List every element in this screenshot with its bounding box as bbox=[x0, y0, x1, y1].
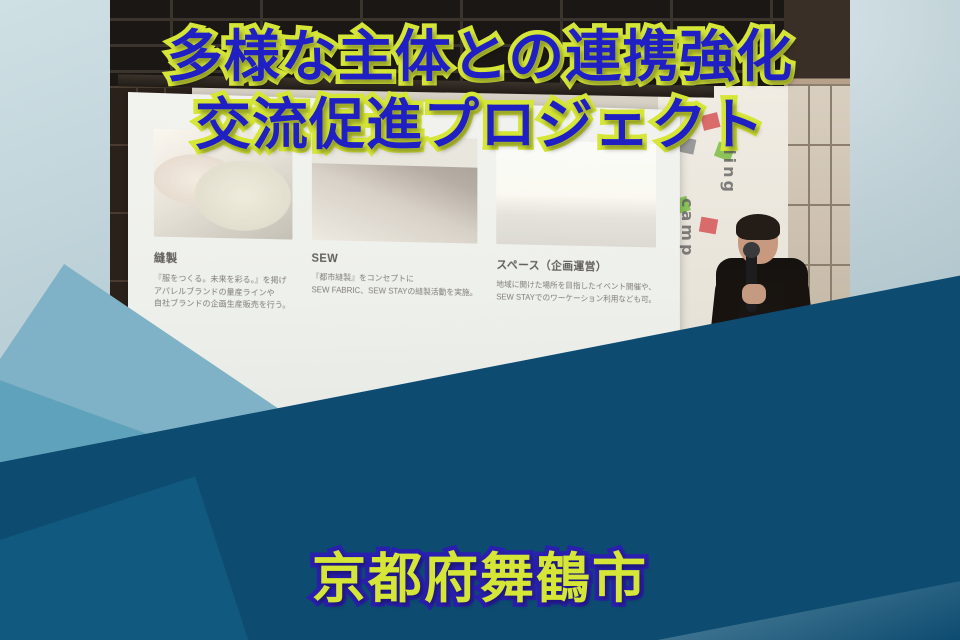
banner-square bbox=[700, 112, 720, 131]
speaker-hand bbox=[742, 284, 766, 304]
sewing-machine-photo bbox=[154, 129, 292, 240]
column-heading: SEW bbox=[311, 253, 477, 268]
white-building-photo bbox=[496, 139, 656, 247]
speaker-hair bbox=[736, 214, 780, 240]
slide-column-sewing: 縫製 『服をつくる。未来を彩る。』を掲げ アパレルブランドの量産ラインや 自社ブ… bbox=[154, 129, 292, 313]
slide-columns: 縫製 『服をつくる。未来を彩る。』を掲げ アパレルブランドの量産ラインや 自社ブ… bbox=[154, 129, 656, 319]
column-body: 地域に開けた場所を目指したイベント開催や、 SEW STAYでのワーケーション利… bbox=[496, 279, 656, 306]
column-heading: 縫製 bbox=[154, 250, 292, 269]
banner-text-bling: Bling bbox=[720, 134, 739, 195]
column-body-line: 自社ブランドの企画生産販売を行う。 bbox=[154, 298, 292, 313]
column-body: 『都市縫製』をコンセプトに SEW FABRIC、SEW STAYの縫製活動を実… bbox=[311, 272, 477, 300]
microphone-head-icon bbox=[743, 242, 760, 258]
traditional-house-photo bbox=[311, 134, 477, 244]
banner-text-camp: camp bbox=[678, 198, 697, 258]
video-thumbnail: SAKU camp Bling 体像 bbox=[0, 0, 960, 640]
slide-column-sew: SEW 『都市縫製』をコンセプトに SEW FABRIC、SEW STAYの縫製… bbox=[311, 134, 477, 316]
column-heading: スペース（企画運営） bbox=[496, 257, 656, 276]
ceiling-truss bbox=[110, 0, 850, 86]
slide-kicker-text: 体像 bbox=[324, 112, 343, 125]
column-body-line: SEW FABRIC、SEW STAYの縫製活動を実施。 bbox=[311, 284, 477, 299]
column-body-line: SEW STAYでのワーケーション利用なども可。 bbox=[496, 291, 656, 306]
column-body: 『服をつくる。未来を彩る。』を掲げ アパレルブランドの量産ラインや 自社ブランド… bbox=[154, 272, 292, 312]
slide-column-space: スペース（企画運営） 地域に開けた場所を目指したイベント開催や、 SEW STA… bbox=[496, 139, 656, 318]
